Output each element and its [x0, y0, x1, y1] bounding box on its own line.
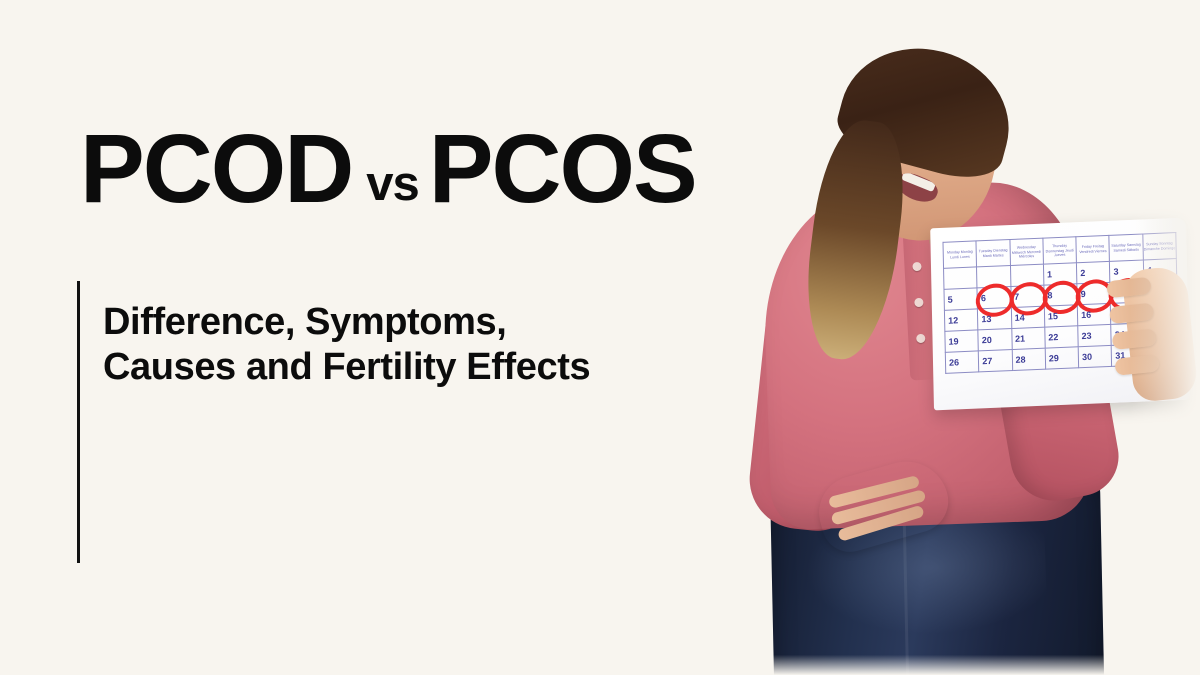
calendar-day: 22	[1045, 326, 1079, 348]
calendar-day: 14	[1011, 306, 1045, 328]
calendar-day: 5	[944, 288, 978, 310]
blouse-button	[912, 262, 921, 271]
text-column: PCODvsPCOS Difference, Symptoms, Causes …	[0, 0, 740, 675]
calendar-day: 30	[1078, 345, 1112, 367]
banner-root: PCODvsPCOS Difference, Symptoms, Causes …	[0, 0, 1200, 675]
calendar-day: 29	[1045, 347, 1079, 369]
calendar-day-circled: 6	[977, 287, 1011, 309]
calendar-header-saturday: Saturday Samstag Samedi Sábado	[1109, 234, 1143, 261]
finger	[1112, 328, 1158, 350]
calendar-header-sunday: Sunday Sonntag Dimanche Domingo	[1143, 233, 1177, 260]
calendar-day: 27	[979, 350, 1013, 372]
calendar-header-friday: Friday Freitag Vendredi Viernes	[1076, 235, 1110, 262]
calendar-header-thursday: Thursday Donnerstag Jeudi Jueves	[1043, 237, 1077, 264]
calendar-day	[1010, 264, 1044, 286]
title-part-pcod: PCOD	[80, 114, 352, 223]
calendar-header-tuesday: Tuesday Dienstag Mardi Martes	[976, 240, 1010, 267]
finger	[1114, 354, 1160, 376]
calendar-header-wednesday: Wednesday Mittwoch Mercredi Miércoles	[1010, 238, 1044, 265]
calendar-day: 13	[978, 308, 1012, 330]
calendar-header-monday: Monday Montag Lundi Lunes	[943, 241, 977, 268]
title-connector-vs: vs	[352, 157, 429, 211]
hero-photo: Monday Montag Lundi Lunes Tuesday Dienst…	[700, 0, 1200, 675]
subtitle-accent-rule	[77, 281, 80, 563]
calendar-day: 12	[944, 309, 978, 331]
calendar-day: 21	[1011, 327, 1045, 349]
calendar-day: 19	[945, 330, 979, 352]
calendar-day	[944, 267, 978, 289]
calendar-day-circled: 7	[1010, 285, 1044, 307]
calendar-day: 20	[978, 329, 1012, 351]
title-part-pcos: PCOS	[429, 114, 696, 223]
calendar-day: 1	[1043, 263, 1077, 285]
calendar-day: 23	[1078, 324, 1112, 346]
finger	[1109, 303, 1155, 325]
blouse-button	[914, 298, 923, 307]
calendar-day: 26	[945, 351, 979, 373]
calendar-day: 2	[1077, 261, 1111, 283]
calendar-day-circled: 8	[1044, 284, 1078, 306]
blouse-button	[916, 334, 925, 343]
finger	[1106, 277, 1152, 299]
calendar-day-circled: 9	[1077, 282, 1111, 304]
calendar-day: 15	[1044, 305, 1078, 327]
calendar-day: 16	[1077, 303, 1111, 325]
page-subtitle: Difference, Symptoms, Causes and Fertili…	[103, 300, 623, 390]
photo-inner: Monday Montag Lundi Lunes Tuesday Dienst…	[700, 0, 1200, 675]
calendar-day: 28	[1012, 348, 1046, 370]
page-title: PCODvsPCOS	[80, 120, 696, 217]
calendar-day	[977, 266, 1011, 288]
